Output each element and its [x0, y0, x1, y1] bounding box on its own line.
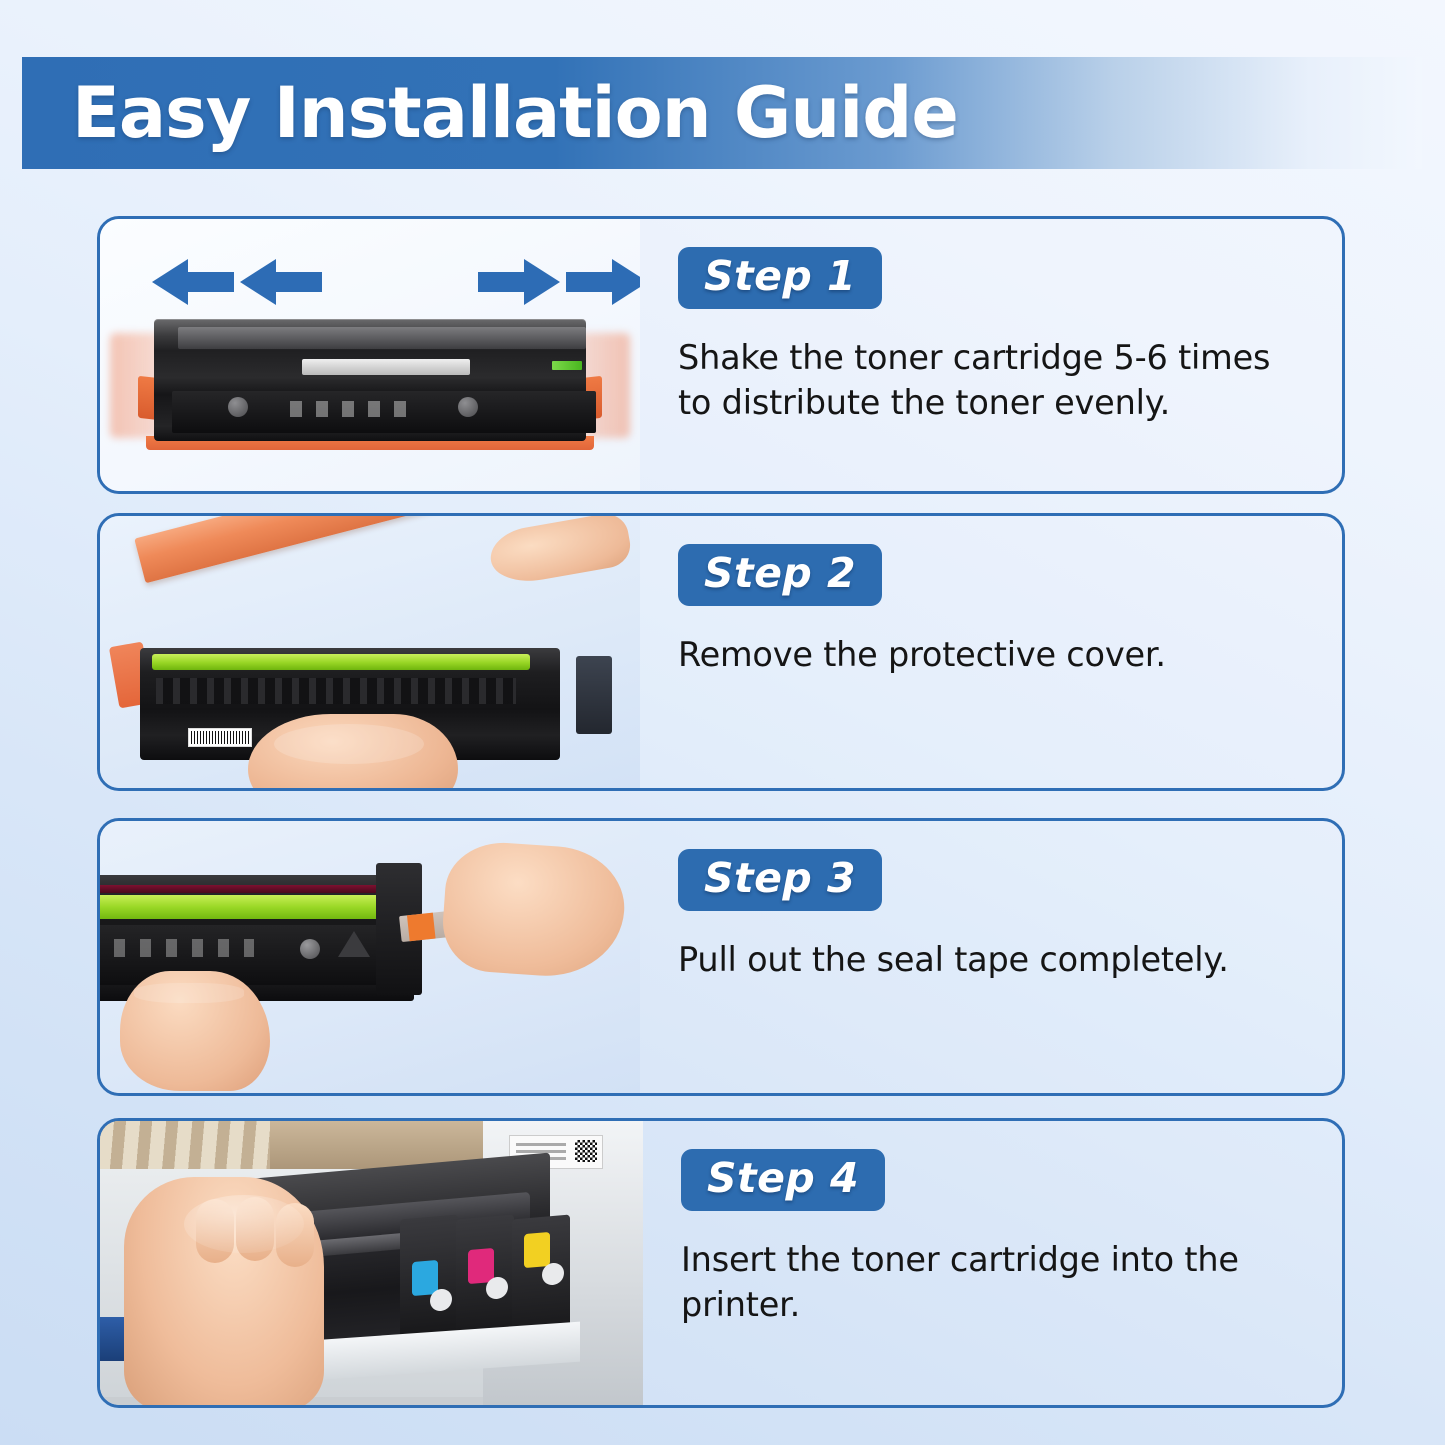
up-arrow-marking-icon	[338, 931, 370, 957]
arrow-left-icon	[240, 259, 322, 305]
toner-cartridge-illustration	[140, 315, 600, 450]
step-2-description: Remove the protective cover.	[678, 633, 1318, 678]
page-title: Easy Installation Guide	[72, 78, 958, 148]
step-2-image	[100, 516, 640, 788]
step-4-image	[100, 1121, 643, 1405]
step-card-4: Step 4 Insert the toner cartridge into t…	[97, 1118, 1345, 1408]
cartridge-endcap	[576, 656, 612, 734]
step-4-badge: Step 4	[681, 1149, 885, 1211]
step-4-copy: Step 4 Insert the toner cartridge into t…	[643, 1121, 1342, 1405]
cartridge-hole	[300, 939, 320, 959]
hand-pulling-tape	[440, 839, 629, 981]
step-3-badge: Step 3	[678, 849, 882, 911]
step-card-2: Step 2 Remove the protective cover.	[97, 513, 1345, 791]
cartridge-body	[154, 319, 586, 441]
hand-holding-cartridge	[248, 714, 458, 788]
cartridge-top-strip	[178, 327, 586, 349]
cartridge-hole	[458, 397, 478, 417]
cartridge-ribs	[156, 678, 516, 704]
arrow-left-icon	[152, 259, 234, 305]
barcode-label	[188, 728, 252, 747]
cartridge-roller	[100, 885, 384, 893]
cartridge-pictograms	[290, 401, 420, 417]
step-3-description: Pull out the seal tape completely.	[678, 938, 1318, 983]
qr-code-icon	[575, 1140, 597, 1162]
step-1-image	[100, 219, 640, 491]
header-band: Easy Installation Guide	[22, 57, 1422, 169]
cartridge-pictograms	[114, 939, 254, 957]
shake-arrows-group	[100, 251, 640, 313]
step-4-description: Insert the toner cartridge into the prin…	[681, 1238, 1297, 1327]
step-2-badge: Step 2	[678, 544, 882, 606]
step-card-3: Step 3 Pull out the seal tape completely…	[97, 818, 1345, 1096]
installation-guide-page: Easy Installation Guide	[0, 0, 1445, 1445]
cartridge-mid-bar	[302, 359, 470, 375]
cartridge-hole	[228, 397, 248, 417]
step-card-1: Step 1 Shake the toner cartridge 5-6 tim…	[97, 216, 1345, 494]
step-2-copy: Step 2 Remove the protective cover.	[640, 516, 1342, 788]
step-3-image	[100, 821, 640, 1093]
step-1-badge: Step 1	[678, 247, 882, 309]
hand-supporting-cartridge	[120, 971, 270, 1091]
hand-gripping-cover	[486, 516, 633, 588]
knuckle-highlight	[184, 1195, 304, 1253]
arrow-right-icon	[478, 259, 560, 305]
green-drum	[152, 654, 530, 670]
arrow-right-icon	[566, 259, 640, 305]
step-3-copy: Step 3 Pull out the seal tape completely…	[640, 821, 1342, 1093]
step-1-description: Shake the toner cartridge 5-6 times to d…	[678, 336, 1278, 425]
green-drum	[100, 895, 384, 919]
hand-inserting-cartridge	[124, 1177, 324, 1405]
yellow-clip	[524, 1232, 550, 1268]
green-chip-contact	[552, 361, 582, 370]
step-1-copy: Step 1 Shake the toner cartridge 5-6 tim…	[640, 219, 1342, 491]
